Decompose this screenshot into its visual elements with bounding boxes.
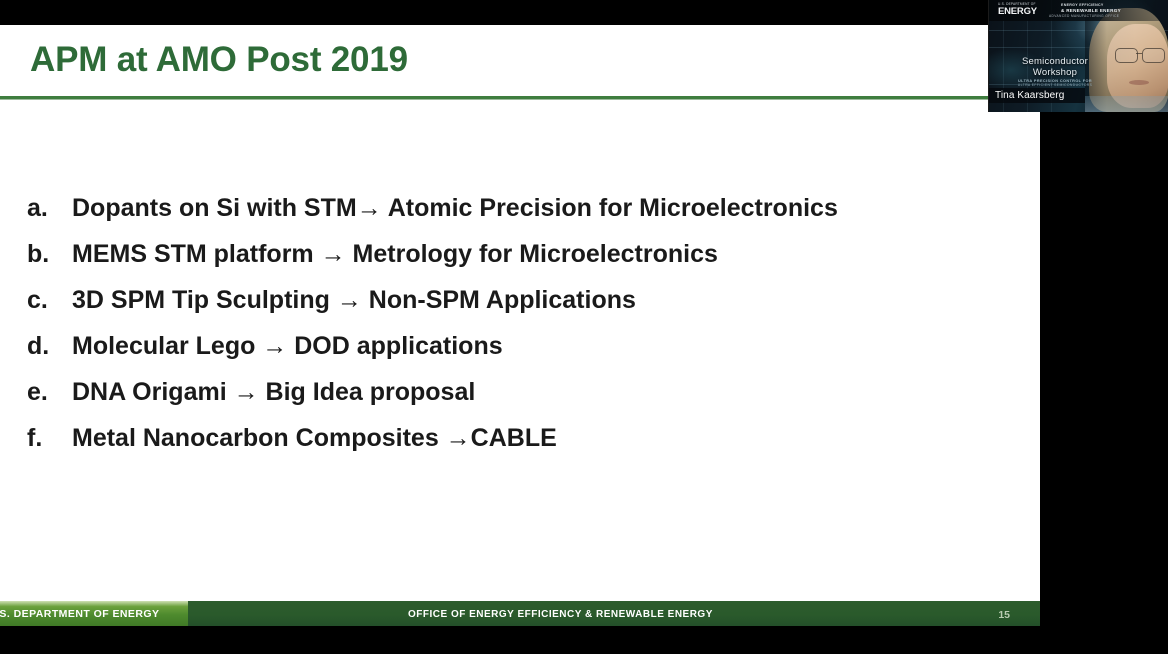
list-item: c. 3D SPM Tip Sculpting → Non-SPM Applic… (0, 277, 1040, 323)
video-logo-banner: U.S. DEPARTMENT OF ENERGY ENERGY EFFICIE… (989, 0, 1168, 21)
list-item-text: Molecular Lego → DOD applications (72, 323, 503, 369)
list-item: b. MEMS STM platform → Metrology for Mic… (0, 231, 1040, 277)
footer-department-band: U.S. DEPARTMENT OF ENERGY (0, 601, 188, 626)
list-item: e. DNA Origami → Big Idea proposal (0, 369, 1040, 415)
title-divider-shadow (0, 99, 1040, 100)
eere-logo-line-3: ADVANCED MANUFACTURING OFFICE (1049, 14, 1119, 18)
list-item-text: 3D SPM Tip Sculpting → Non-SPM Applicati… (72, 277, 636, 323)
list-item: f. Metal Nanocarbon Composites →CABLE (0, 415, 1040, 461)
workshop-caption-line-1: Semiconductor (995, 56, 1115, 67)
doe-logo-wordmark: ENERGY (998, 6, 1037, 17)
list-item-marker: e. (27, 369, 65, 415)
list-item-text: MEMS STM platform → Metrology for Microe… (72, 231, 718, 277)
list-item-marker: d. (27, 323, 65, 369)
footer-office-label: OFFICE OF ENERGY EFFICIENCY & RENEWABLE … (408, 609, 713, 620)
presenter-video-overlay[interactable]: U.S. DEPARTMENT OF ENERGY ENERGY EFFICIE… (988, 0, 1168, 112)
workshop-caption-line-2: Workshop (995, 67, 1115, 78)
doe-logo: U.S. DEPARTMENT OF ENERGY (998, 2, 1056, 18)
list-item-text: DNA Origami → Big Idea proposal (72, 369, 475, 415)
eere-logo-line-2: & RENEWABLE ENERGY (1061, 8, 1121, 13)
list-item: d. Molecular Lego → DOD applications (0, 323, 1040, 369)
list-item-text: Dopants on Si with STM→ Atomic Precision… (72, 185, 838, 231)
page-title: APM at AMO Post 2019 (30, 40, 408, 80)
presentation-slide: APM at AMO Post 2019 a. Dopants on Si wi… (0, 25, 1040, 626)
footer-department-label: U.S. DEPARTMENT OF ENERGY (0, 608, 159, 620)
list-item-marker: b. (27, 231, 65, 277)
list-item-marker: a. (27, 185, 65, 231)
screen-share-stage: APM at AMO Post 2019 a. Dopants on Si wi… (0, 0, 1168, 654)
slide-title-block: APM at AMO Post 2019 (0, 25, 1040, 98)
list-item-marker: f. (27, 415, 65, 461)
slide-body-list: a. Dopants on Si with STM→ Atomic Precis… (0, 185, 1040, 461)
eere-logo-line-1: ENERGY EFFICIENCY (1061, 3, 1104, 7)
presenter-name-label: Tina Kaarsberg (989, 88, 1085, 103)
list-item-text: Metal Nanocarbon Composites →CABLE (72, 415, 557, 461)
slide-footer: U.S. DEPARTMENT OF ENERGY OFFICE OF ENER… (0, 601, 1040, 626)
workshop-caption-subtitle-2: ULTRA EFFICIENT SEMICONDUCTORS (995, 83, 1115, 87)
presenter-name-text: Tina Kaarsberg (995, 90, 1064, 101)
video-side-panel (1085, 96, 1168, 112)
footer-page-number: 15 (998, 609, 1010, 621)
list-item-marker: c. (27, 277, 65, 323)
list-item: a. Dopants on Si with STM→ Atomic Precis… (0, 185, 1040, 231)
workshop-caption: Semiconductor Workshop ULTRA PRECISION C… (995, 56, 1115, 87)
footer-office-band: OFFICE OF ENERGY EFFICIENCY & RENEWABLE … (188, 601, 1040, 626)
